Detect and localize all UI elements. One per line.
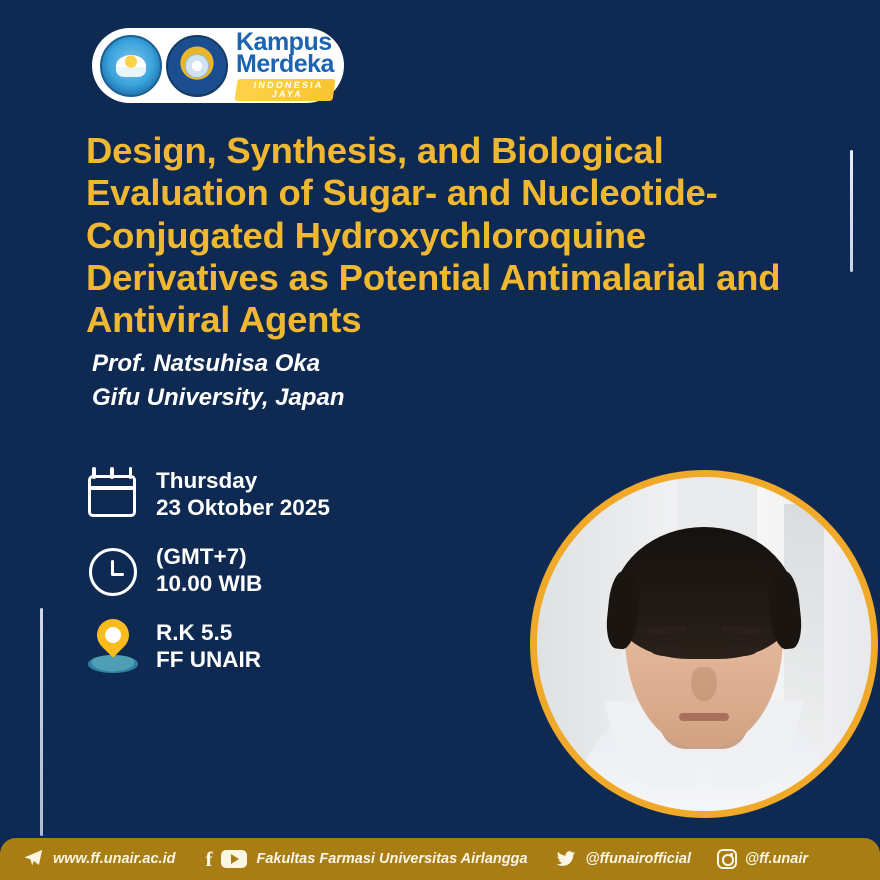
tut-wuri-handayani-seal-icon [100,35,162,97]
speaker-photo [530,470,878,818]
footer-facebook-youtube[interactable]: Fakultas Farmasi Universitas Airlangga [256,851,527,867]
clock-icon [82,539,144,601]
footer-twitter-handle[interactable]: @ffunairofficial [586,851,691,867]
detail-row-date: Thursday 23 Oktober 2025 [82,463,330,525]
page-title: Design, Synthesis, and Biological Evalua… [86,130,846,342]
universitas-airlangga-seal-icon [166,35,228,97]
detail-date-text: Thursday 23 Oktober 2025 [156,467,330,522]
kampus-merdeka-wordmark: Kampus Merdeka INDONESIA JAYA [236,30,334,101]
detail-location-text: R.K 5.5 FF UNAIR [156,619,261,674]
detail-time-text: (GMT+7) 10.00 WIB [156,543,262,598]
decorative-line-left [40,608,43,836]
detail-row-location: R.K 5.5 FF UNAIR [82,615,330,677]
logo-tagline: INDONESIA JAYA [234,79,335,101]
event-details: Thursday 23 Oktober 2025 (GMT+7) 10.00 W… [82,463,330,691]
instagram-icon[interactable] [717,849,737,869]
decorative-line-right [850,150,853,272]
footer-website[interactable]: www.ff.unair.ac.id [53,851,175,867]
poster-canvas: Kampus Merdeka INDONESIA JAYA Design, Sy… [0,0,880,880]
location-pin-icon [82,615,144,677]
twitter-icon[interactable] [554,849,578,869]
speaker-block: Prof. Natsuhisa Oka Gifu University, Jap… [92,347,652,414]
calendar-icon [82,463,144,525]
speaker-name: Prof. Natsuhisa Oka [92,347,652,381]
speaker-affiliation: Gifu University, Japan [92,381,652,415]
detail-row-time: (GMT+7) 10.00 WIB [82,539,330,601]
footer-instagram-handle[interactable]: @ff.unair [745,851,808,867]
kampus-merdeka-logo: Kampus Merdeka INDONESIA JAYA [92,28,344,103]
footer-bar: www.ff.unair.ac.id f Fakultas Farmasi Un… [0,838,880,880]
facebook-icon[interactable]: f [201,849,216,869]
send-plane-icon [22,848,44,870]
youtube-icon[interactable] [221,850,247,868]
logo-line-2: Merdeka [236,52,334,77]
